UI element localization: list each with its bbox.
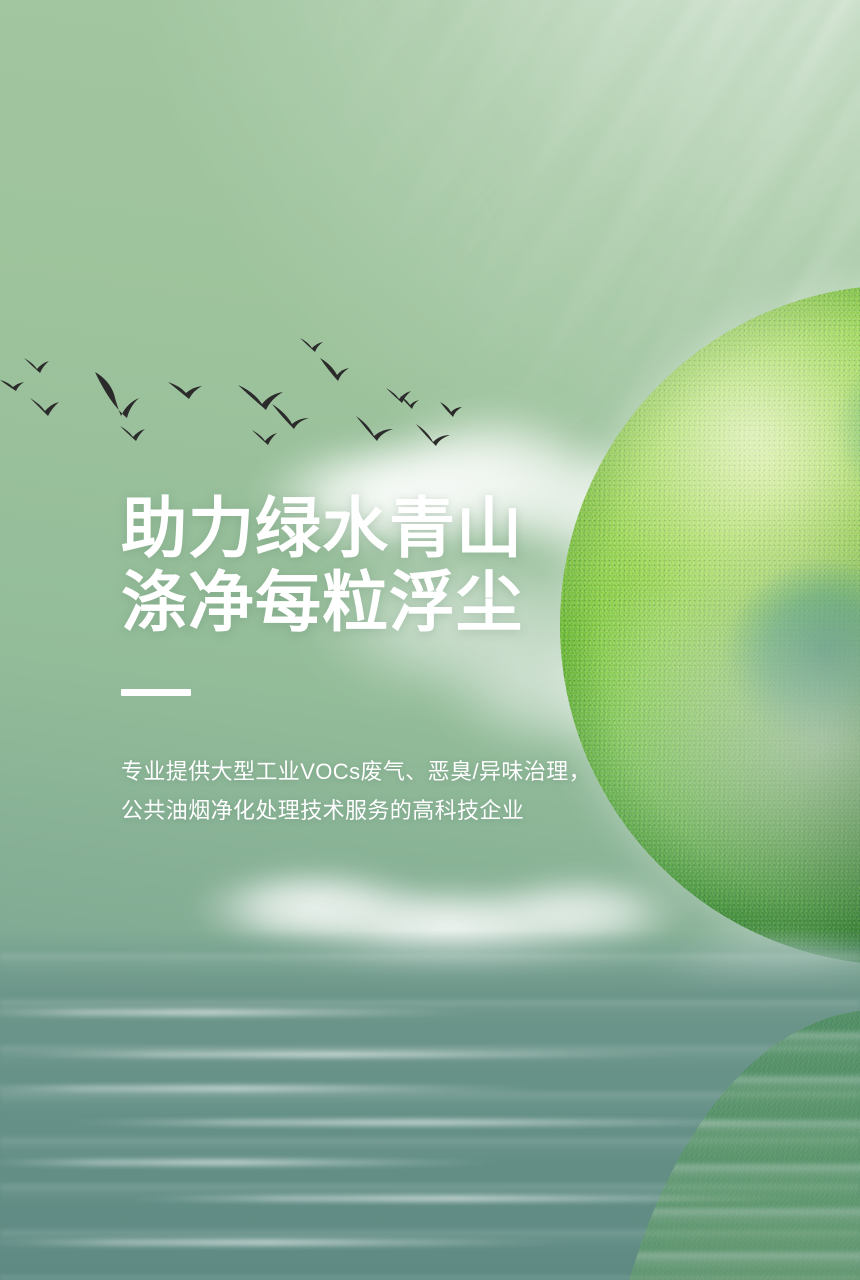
headline-line-1: 助力绿水青山 <box>121 492 681 566</box>
headline-line-2: 涤净每粒浮尘 <box>121 566 681 640</box>
divider-rule <box>121 689 191 696</box>
subtitle-line-2: 公共油烟净化处理技术服务的高科技企业 <box>121 791 681 830</box>
hero-copy: 助力绿水青山 涤净每粒浮尘 专业提供大型工业VOCs废气、恶臭/异味治理， 公共… <box>121 492 681 830</box>
globe-water-reflection <box>598 1010 860 1280</box>
subtitle-line-1: 专业提供大型工业VOCs废气、恶臭/异味治理， <box>121 752 681 791</box>
banner-canvas: 助力绿水青山 涤净每粒浮尘 专业提供大型工业VOCs废气、恶臭/异味治理， 公共… <box>0 0 860 1280</box>
reflection-ripples <box>598 1010 860 1280</box>
